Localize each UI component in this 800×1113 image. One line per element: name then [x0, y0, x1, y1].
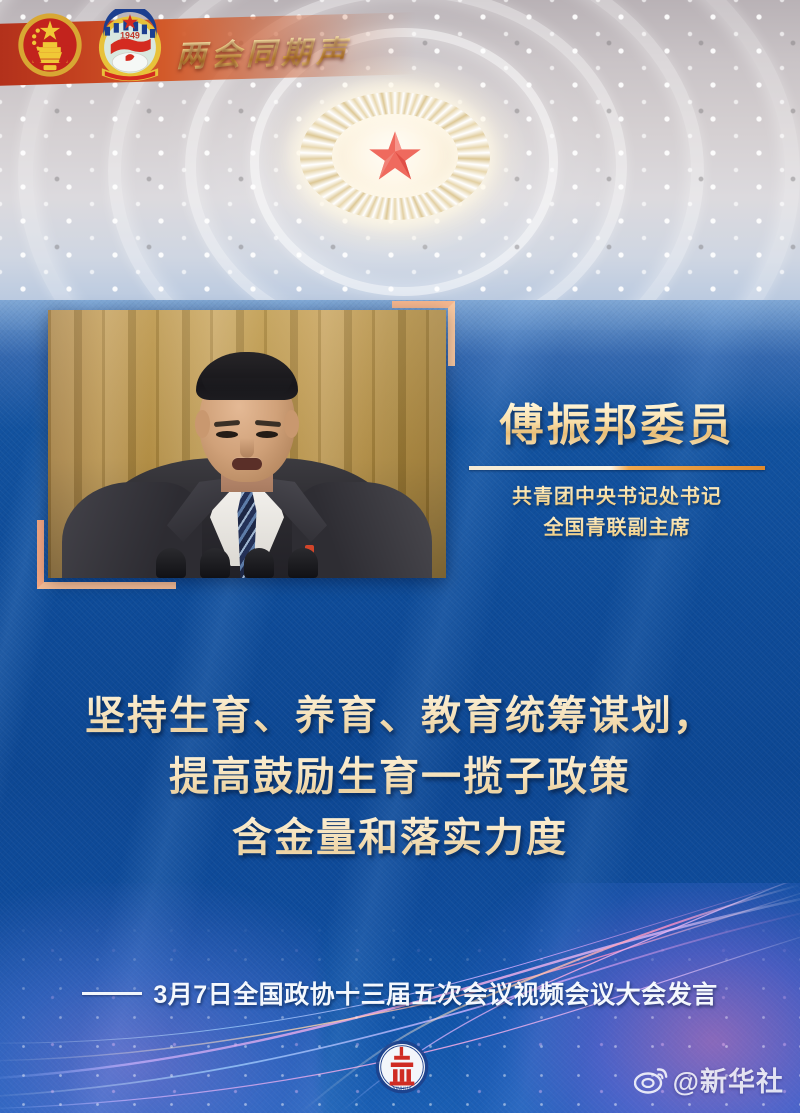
- xinhua-logo-icon: XINHUA: [374, 1039, 430, 1095]
- eye-right: [256, 431, 278, 438]
- speaker-name: 傅振邦委员: [452, 402, 782, 450]
- microphone: [156, 548, 186, 578]
- ear-left: [195, 410, 210, 438]
- header-band: 两会同期声 1949: [0, 0, 800, 100]
- mouth: [232, 458, 262, 470]
- microphone: [200, 548, 230, 578]
- speaker-name-block: 傅振邦委员 共青团中央书记处书记 全国青联副主席: [452, 402, 782, 544]
- ceiling-medallion: [300, 92, 490, 220]
- microphone: [288, 548, 318, 578]
- svg-text:XINHUA: XINHUA: [392, 1087, 412, 1093]
- weibo-handle: @新华社: [673, 1060, 784, 1099]
- ear-right: [284, 410, 299, 438]
- microphone: [244, 548, 274, 578]
- weibo-watermark: @新华社: [634, 1060, 784, 1099]
- red-star-icon: [367, 128, 423, 184]
- cppcc-emblem-icon: 1949: [93, 9, 167, 83]
- ribbon-title-text: 两会同期声: [176, 28, 351, 75]
- quote-line-2: 提高鼓励生育一揽子政策: [0, 747, 800, 808]
- speaker-figure: [48, 363, 446, 578]
- national-emblem-icon: [14, 9, 86, 81]
- nose: [240, 438, 254, 458]
- quote-line-3: 含金量和落实力度: [0, 808, 800, 869]
- speaker-photo-frame: [48, 310, 446, 578]
- quote-block: 坚持生育、养育、教育统筹谋划， 提高鼓励生育一揽子政策 含金量和落实力度: [0, 686, 800, 868]
- speaker-photo: [48, 310, 446, 578]
- speaker-role-line-1: 共青团中央书记处书记: [452, 482, 782, 513]
- name-divider: [469, 466, 765, 470]
- speaker-role-line-2: 全国青联副主席: [452, 513, 782, 544]
- source-caption: 3月7日全国政协十三届五次会议视频会议大会发言: [0, 975, 800, 1011]
- quote-line-1: 坚持生育、养育、教育统筹谋划，: [0, 686, 800, 747]
- poster-root: 两会同期声 1949: [0, 0, 800, 1113]
- weibo-icon: [634, 1066, 668, 1094]
- microphone-row: [48, 544, 446, 578]
- eye-left: [216, 431, 238, 438]
- caption-text: 3月7日全国政协十三届五次会议视频会议大会发言: [153, 975, 717, 1011]
- caption-dash: [82, 992, 142, 995]
